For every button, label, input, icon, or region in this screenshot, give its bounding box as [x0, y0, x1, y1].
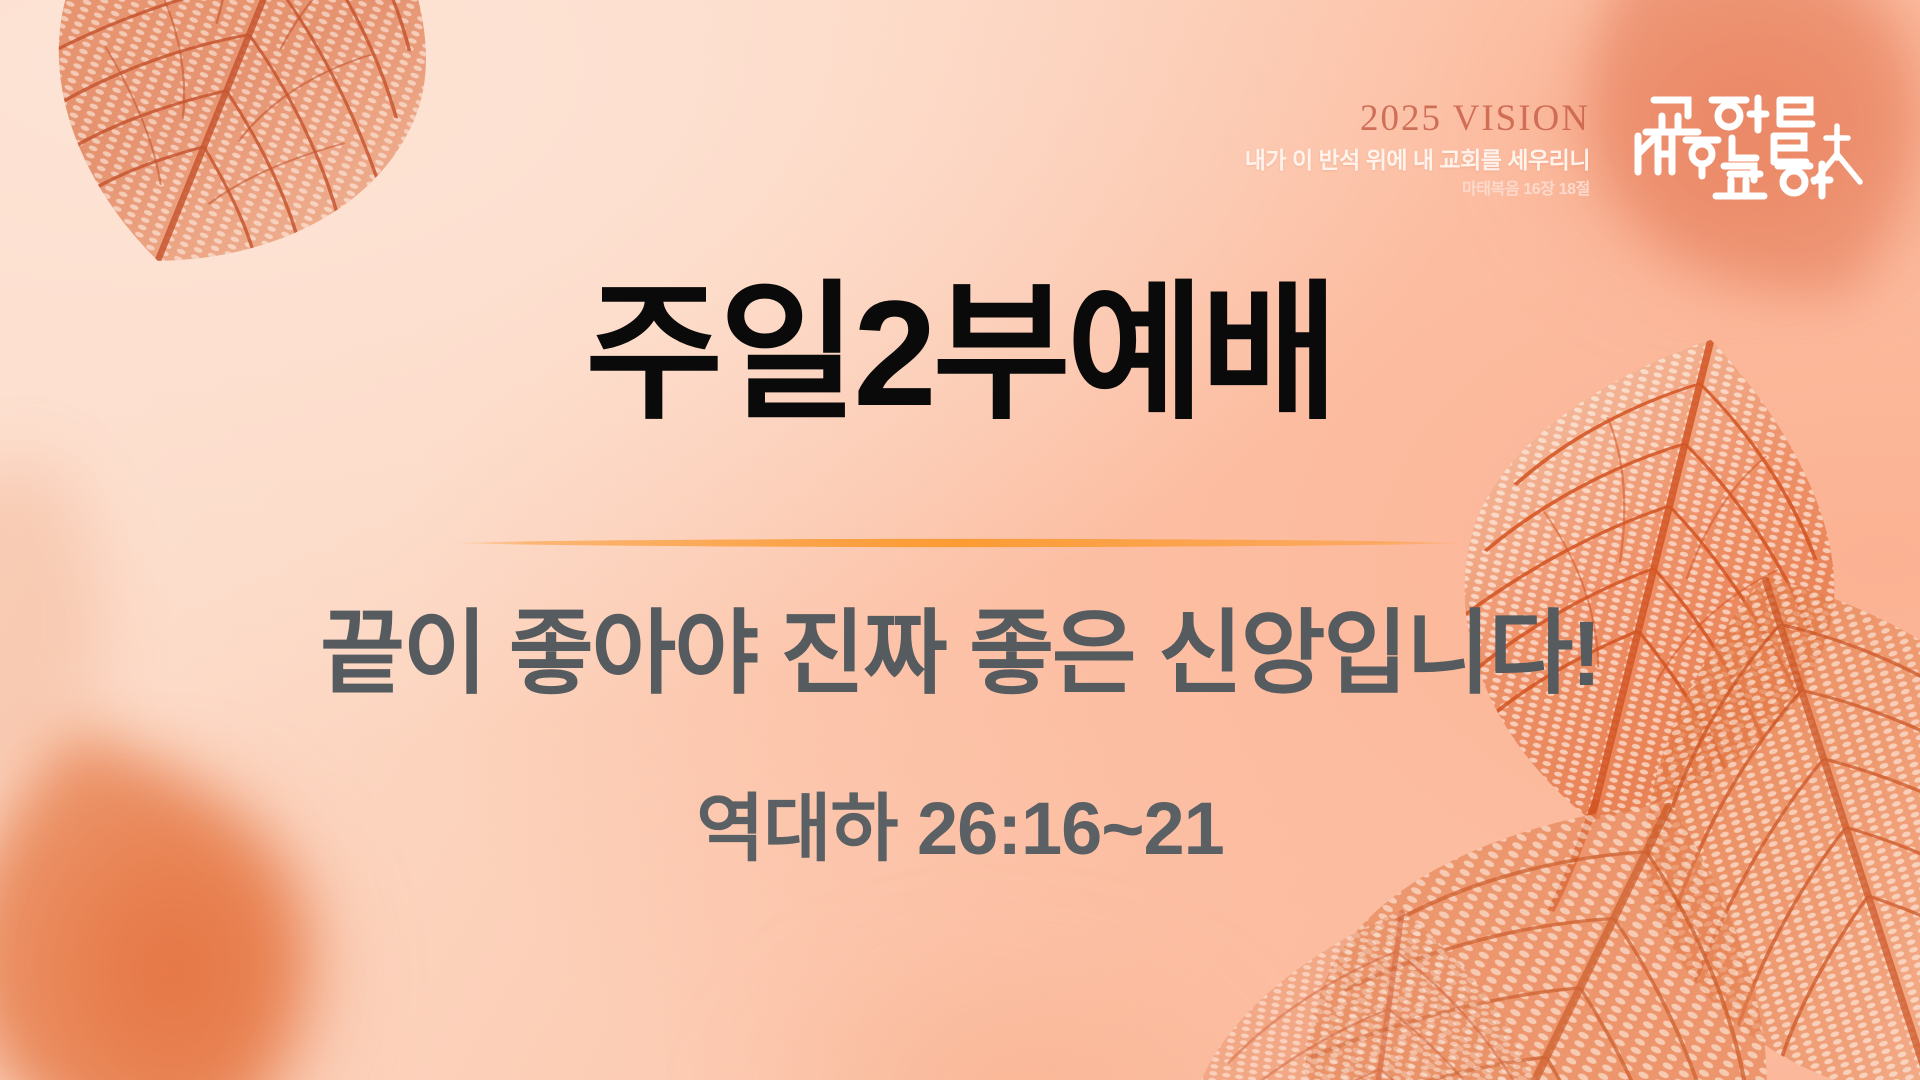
logo-line-3 [1716, 164, 1830, 196]
vision-verse-text: 내가 이 반석 위에 내 교회를 세우리니 [1120, 149, 1590, 172]
presentation-slide: 2025 VISION 내가 이 반석 위에 내 교회를 세우리니 마태복음 1… [0, 0, 1920, 1080]
vision-year-label: 2025 VISION [1120, 100, 1590, 137]
service-title: 주일2부예배 [0, 272, 1920, 434]
logo-line-2 [1638, 136, 1806, 176]
church-logo[interactable] [1632, 86, 1872, 206]
title-divider [447, 536, 1473, 550]
sermon-title: 끝이 좋아야 진짜 좋은 신앙입니다! [0, 602, 1920, 708]
scripture-reference: 역대하 26:16~21 [0, 786, 1920, 871]
vision-verse-reference: 마태복음 16장 18절 [1120, 182, 1590, 198]
logo-line-1 [1646, 98, 1812, 132]
vision-block: 2025 VISION 내가 이 반석 위에 내 교회를 세우리니 마태복음 1… [1120, 100, 1590, 198]
